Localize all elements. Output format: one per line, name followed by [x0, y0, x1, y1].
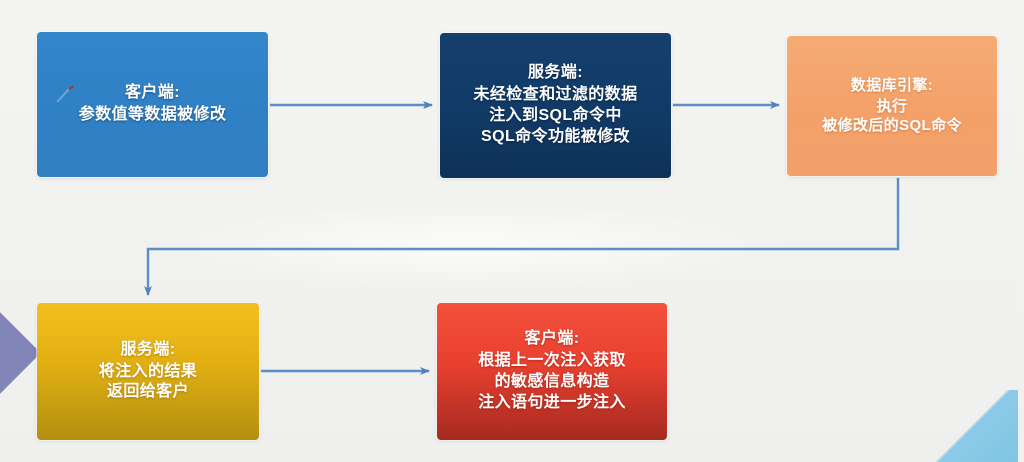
- node-client-reinject-line-1: 根据上一次注入获取: [478, 351, 626, 372]
- node-db-engine-line-2: 被修改后的SQL命令: [822, 116, 962, 136]
- edge-db-to-server-return: [148, 178, 898, 295]
- node-db-engine-line-0: 数据库引擎:: [851, 76, 933, 96]
- node-server-return-line-2: 返回给客户: [107, 382, 189, 403]
- purple-chevron-decoration: [0, 309, 41, 397]
- node-server-inject-line-2: 注入到SQL命令中: [489, 106, 622, 127]
- node-server-inject-line-0: 服务端:: [528, 63, 583, 84]
- node-client-modify-line-1: 参数值等数据被修改: [79, 105, 227, 126]
- node-client-modify-line-0: 客户端:: [125, 83, 180, 104]
- blue-corner-wedge-decoration: [914, 390, 1024, 462]
- node-db-engine-line-1: 执行: [877, 97, 908, 117]
- background-haze: [150, 200, 790, 290]
- diagram-canvas: 客户端: 参数值等数据被修改 服务端: 未经检查和过滤的数据 注入到SQL命令中…: [0, 0, 1024, 462]
- node-client-reinject-line-2: 的敏感信息构造: [495, 372, 610, 393]
- node-db-engine[interactable]: 数据库引擎: 执行 被修改后的SQL命令: [787, 36, 997, 176]
- node-client-reinject[interactable]: 客户端: 根据上一次注入获取 的敏感信息构造 注入语句进一步注入: [437, 303, 667, 440]
- right-edge-strip: [1018, 0, 1024, 462]
- node-client-modify[interactable]: 客户端: 参数值等数据被修改: [37, 32, 268, 177]
- node-server-return[interactable]: 服务端: 将注入的结果 返回给客户: [37, 303, 259, 440]
- node-client-reinject-line-0: 客户端:: [525, 329, 580, 350]
- node-server-inject-line-3: SQL命令功能被修改: [481, 127, 630, 148]
- node-server-return-line-1: 将注入的结果: [99, 362, 197, 383]
- node-server-return-line-0: 服务端:: [121, 340, 176, 361]
- node-server-inject-line-1: 未经检查和过滤的数据: [473, 85, 637, 106]
- node-server-inject[interactable]: 服务端: 未经检查和过滤的数据 注入到SQL命令中 SQL命令功能被修改: [440, 33, 671, 178]
- node-client-reinject-line-3: 注入语句进一步注入: [478, 393, 626, 414]
